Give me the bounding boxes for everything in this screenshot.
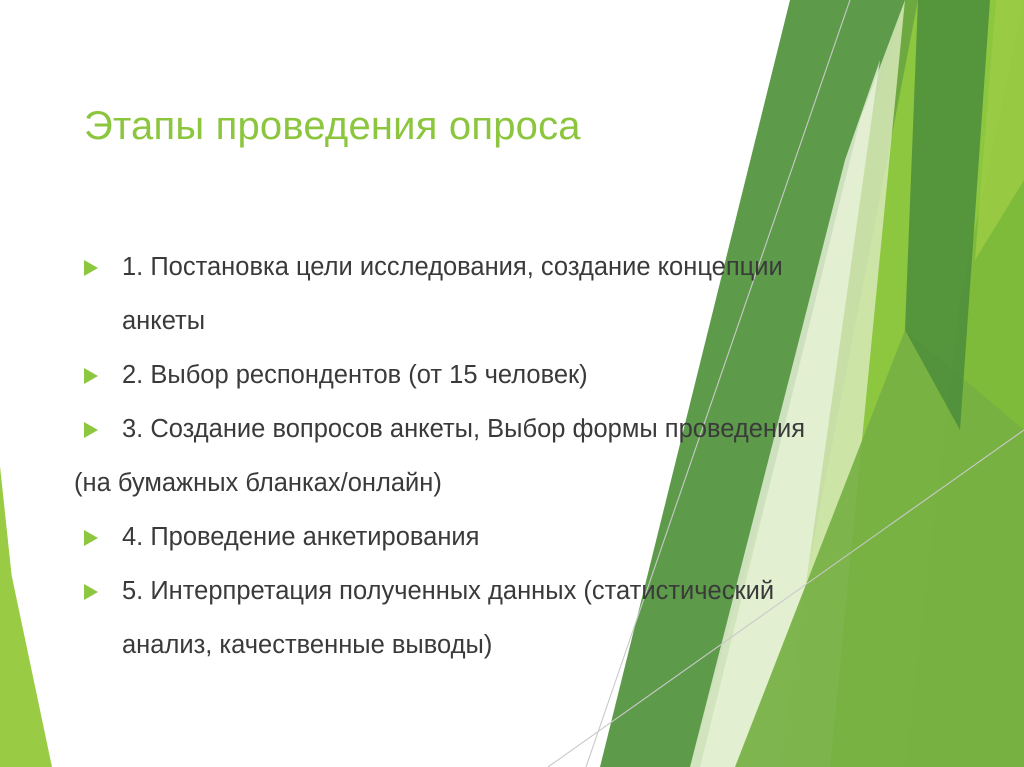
- list-item-text: анализ, качественные выводы): [122, 618, 492, 672]
- list-item: 3. Создание вопросов анкеты, Выбор формы…: [72, 402, 972, 456]
- list-item-text: 5. Интерпретация полученных данных (стат…: [122, 564, 774, 618]
- list-item-text: 2. Выбор респондентов (от 15 человек): [122, 348, 588, 402]
- slide-title: Этапы проведения опроса: [84, 103, 844, 149]
- list-item: 4. Проведение анкетирования: [72, 510, 972, 564]
- list-item: 5. Интерпретация полученных данных (стат…: [72, 564, 972, 618]
- list-item-continuation: анкеты: [72, 294, 972, 348]
- slide-canvas: Этапы проведения опроса 1. Постановка це…: [0, 0, 1024, 767]
- list-item: 2. Выбор респондентов (от 15 человек): [72, 348, 972, 402]
- list-item-continuation: (на бумажных бланках/онлайн): [72, 456, 972, 510]
- list-item-text: анкеты: [122, 294, 205, 348]
- list-item-text: 4. Проведение анкетирования: [122, 510, 480, 564]
- list-item-continuation: анализ, качественные выводы): [72, 618, 972, 672]
- list-item-text: 3. Создание вопросов анкеты, Выбор формы…: [122, 402, 805, 456]
- list-item-text: (на бумажных бланках/онлайн): [74, 456, 442, 510]
- steps-list: 1. Постановка цели исследования, создани…: [72, 240, 972, 672]
- slide-content: Этапы проведения опроса 1. Постановка це…: [0, 0, 1024, 767]
- list-item: 1. Постановка цели исследования, создани…: [72, 240, 972, 294]
- list-item-text: 1. Постановка цели исследования, создани…: [122, 240, 783, 294]
